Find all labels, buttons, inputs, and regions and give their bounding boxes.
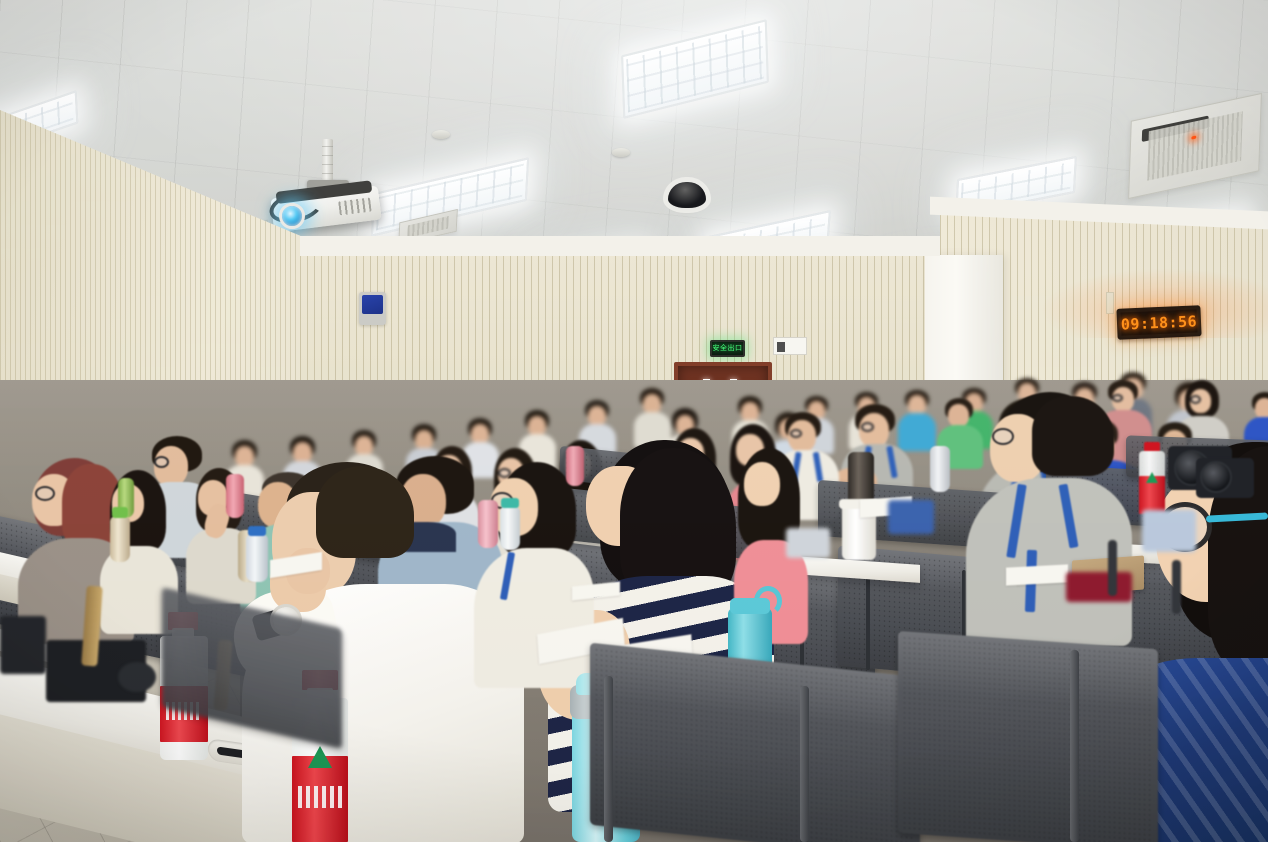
smoke-detector-icon xyxy=(432,130,450,139)
projector-vent xyxy=(338,197,372,215)
jacket-on-seat xyxy=(1066,572,1132,602)
emergency-exit-sign: 安全出口 xyxy=(710,340,745,357)
seat-post xyxy=(1070,650,1079,842)
bottle-cap xyxy=(248,526,266,536)
ceiling-soffit xyxy=(300,236,940,256)
glasses-icon xyxy=(992,428,1014,445)
thermos-flask xyxy=(110,516,130,562)
dslr-camera xyxy=(1196,458,1254,498)
projector-lens xyxy=(279,203,305,229)
clock-bracket xyxy=(1106,292,1114,314)
camera-lens xyxy=(1200,461,1232,493)
paper-sheet xyxy=(1006,564,1068,585)
ac-grille xyxy=(1148,112,1243,181)
seat-divider xyxy=(866,566,870,670)
glasses-icon xyxy=(35,486,55,501)
water-bottle xyxy=(1139,442,1165,514)
water-bottle xyxy=(246,534,268,582)
glasses-icon xyxy=(154,456,169,468)
clock-time-text: 09:18:56 xyxy=(1121,312,1198,333)
panel-screen-icon xyxy=(362,295,383,314)
wall-notice-plaque xyxy=(773,337,807,355)
bottle-cap xyxy=(1144,442,1160,451)
equipment-stand xyxy=(1108,540,1117,596)
glasses-icon xyxy=(861,422,874,432)
projector-mount-rod xyxy=(322,139,333,183)
chair-frame xyxy=(118,662,156,692)
bottle-lid xyxy=(730,598,770,614)
seat-back-foreground xyxy=(590,643,920,842)
exit-sign-text: 安全出口 xyxy=(713,345,743,352)
seat-back-foreground xyxy=(898,631,1158,842)
chair-frame xyxy=(0,616,46,674)
backpack xyxy=(888,500,934,534)
led-wall-clock: 09:18:56 xyxy=(1116,305,1201,340)
thermos-cap xyxy=(112,507,128,518)
equipment-stand xyxy=(1172,560,1181,614)
dome-security-camera xyxy=(668,182,706,208)
seat-post xyxy=(604,676,613,842)
wall-control-panel[interactable] xyxy=(359,292,386,325)
bottle-label-text xyxy=(298,786,342,808)
smoke-detector-icon xyxy=(612,148,630,157)
thermos-flask xyxy=(226,474,244,518)
backpack xyxy=(1142,510,1196,552)
ac-grille xyxy=(407,216,448,239)
bottle-cap xyxy=(501,498,519,508)
lecture-hall-photo: 09:18:56 安全出口 xyxy=(0,0,1268,842)
thermos-flask xyxy=(566,446,584,486)
glasses-icon xyxy=(790,429,802,438)
seat-post xyxy=(800,686,809,842)
thermos-flask xyxy=(478,500,498,548)
water-bottle xyxy=(500,506,520,550)
bag xyxy=(786,528,830,558)
thermos-flask xyxy=(930,446,950,492)
